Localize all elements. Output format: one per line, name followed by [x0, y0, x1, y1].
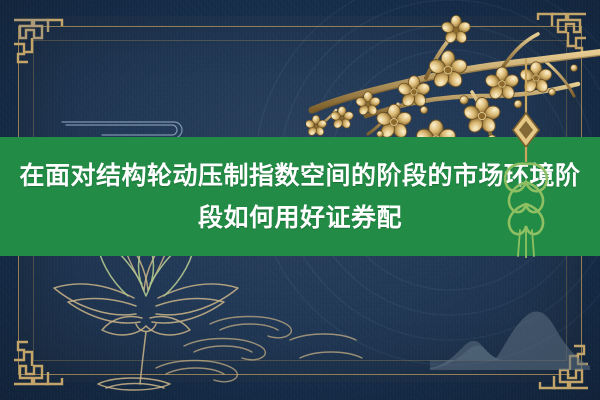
poster-canvas: 在面对结构轮动压制指数空间的阶段的市场环境阶 段如何用好证券配	[0, 0, 600, 400]
panel-edge-bottom	[33, 360, 567, 361]
panel-edge-top	[33, 40, 567, 41]
title-banner: 在面对结构轮动压制指数空间的阶段的市场环境阶 段如何用好证券配	[0, 137, 600, 256]
title-line-2: 段如何用好证券配	[198, 198, 402, 238]
frame-line-top	[30, 26, 582, 27]
frame-line-bottom	[18, 374, 570, 375]
title-line-1: 在面对结构轮动压制指数空间的阶段的市场环境阶	[19, 156, 580, 196]
